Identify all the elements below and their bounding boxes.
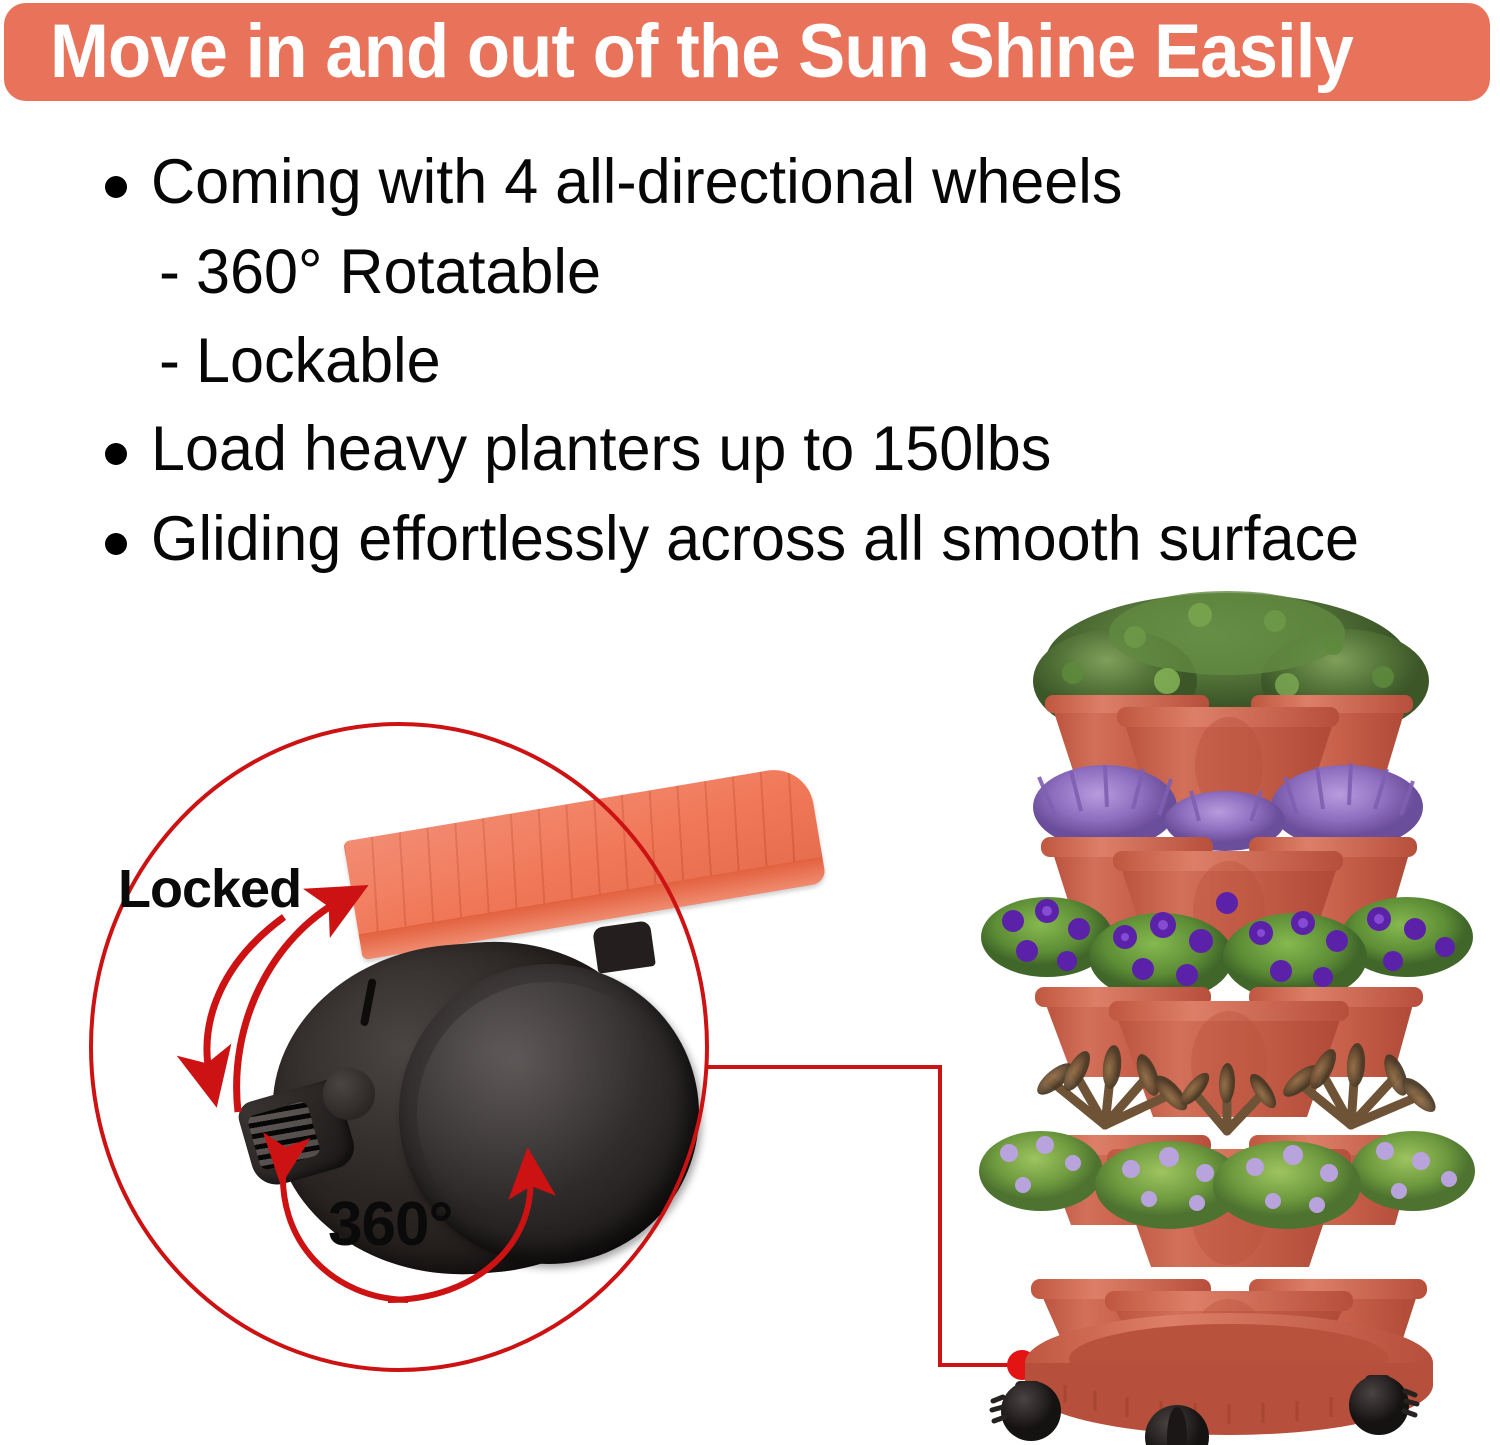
list-item: - 360° Rotatable bbox=[159, 240, 1485, 304]
locked-arrow-up bbox=[237, 900, 341, 1112]
page-title: Move in and out of the Sun Shine Easily bbox=[50, 14, 1353, 90]
tier-3-plant bbox=[981, 892, 1473, 1001]
product-image-planter-tower bbox=[955, 585, 1500, 1445]
dash-icon: - bbox=[159, 329, 180, 393]
list-item: Gliding effortlessly across all smooth s… bbox=[105, 507, 1485, 571]
list-item: - Lockable bbox=[159, 329, 1485, 393]
infographic-page: Move in and out of the Sun Shine Easily … bbox=[0, 0, 1500, 1445]
header-banner: Move in and out of the Sun Shine Easily bbox=[4, 3, 1490, 101]
feature-text: 360° Rotatable bbox=[196, 240, 601, 304]
callout-ring-graphic bbox=[88, 722, 710, 1372]
locked-label: Locked bbox=[118, 862, 301, 916]
bullet-dot-icon bbox=[105, 533, 127, 555]
list-item: Load heavy planters up to 150lbs bbox=[105, 417, 1485, 481]
callout-circle bbox=[91, 724, 707, 1370]
locked-arrow-down bbox=[207, 917, 284, 1077]
feature-text: Load heavy planters up to 150lbs bbox=[151, 417, 1051, 481]
caster-front-left bbox=[992, 1381, 1061, 1441]
feature-text: Lockable bbox=[196, 329, 441, 393]
bullet-dot-icon bbox=[105, 443, 127, 465]
feature-list: Coming with 4 all-directional wheels - 3… bbox=[105, 150, 1485, 597]
list-item: Coming with 4 all-directional wheels bbox=[105, 150, 1485, 214]
rotation-label: 360° bbox=[328, 1194, 452, 1256]
bullet-dot-icon bbox=[105, 176, 127, 198]
caster-callout: Locked 360° bbox=[88, 722, 710, 1372]
dash-icon: - bbox=[159, 240, 180, 304]
feature-text: Gliding effortlessly across all smooth s… bbox=[151, 507, 1359, 571]
feature-text: Coming with 4 all-directional wheels bbox=[151, 150, 1122, 214]
